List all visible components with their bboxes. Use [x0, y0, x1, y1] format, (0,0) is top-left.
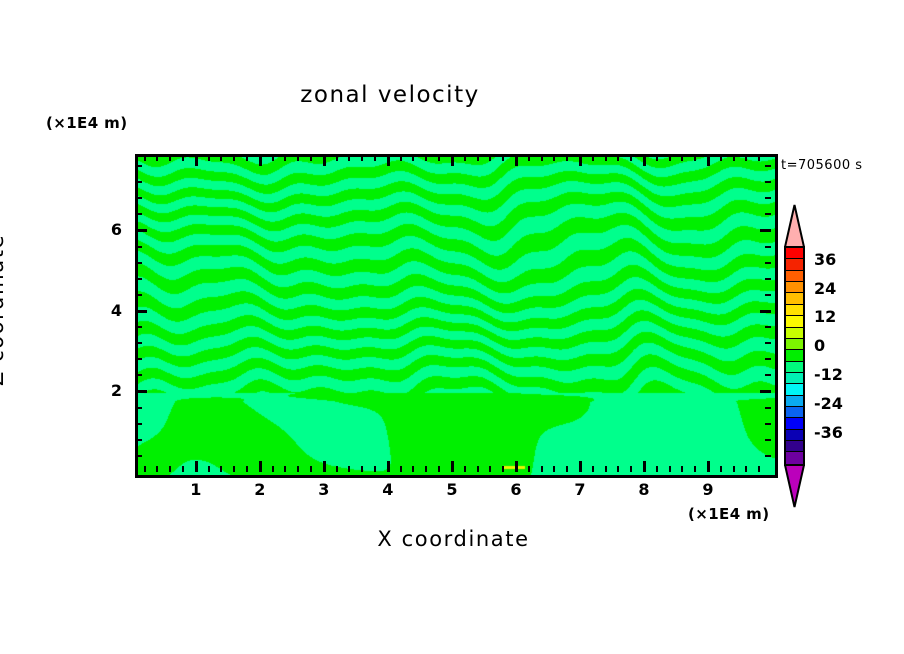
y-major-tick: [136, 229, 147, 232]
x-minor-tick-top: [336, 155, 338, 161]
y-tick-label: 2: [96, 381, 122, 400]
colorbar-band: [786, 271, 803, 282]
x-minor-tick: [272, 466, 274, 472]
x-tick-label: 2: [245, 480, 275, 499]
x-minor-tick-top: [412, 155, 414, 161]
colorbar-tick-label: 36: [814, 250, 836, 269]
x-minor-tick: [156, 466, 158, 472]
y-minor-tick: [136, 358, 142, 360]
y-minor-tick-right: [765, 423, 771, 425]
y-minor-tick-right: [765, 165, 771, 167]
colorbar-band: [786, 305, 803, 316]
x-minor-tick-top: [169, 155, 171, 161]
colorbar-bands: [784, 246, 805, 466]
x-tick-label: 1: [181, 480, 211, 499]
y-minor-tick: [136, 423, 142, 425]
x-major-tick: [707, 461, 710, 472]
x-minor-tick: [502, 466, 504, 472]
y-minor-tick-right: [765, 455, 771, 457]
colorbar-band: [786, 396, 803, 407]
x-tick-label: 4: [373, 480, 403, 499]
x-minor-tick-top: [489, 155, 491, 161]
x-major-tick-top: [451, 155, 454, 166]
x-minor-tick: [566, 466, 568, 472]
y-minor-tick: [136, 294, 142, 296]
x-tick-label: 8: [629, 480, 659, 499]
x-minor-tick-top: [208, 155, 210, 161]
y-minor-tick-right: [765, 197, 771, 199]
y-tick-label: 6: [96, 220, 122, 239]
x-minor-tick-top: [348, 155, 350, 161]
x-tick-label: 3: [309, 480, 339, 499]
x-minor-tick: [233, 466, 235, 472]
y-minor-tick: [136, 407, 142, 409]
colorbar-tick-label: -36: [814, 423, 843, 442]
y-minor-tick: [136, 374, 142, 376]
colorbar-band: [786, 248, 803, 259]
x-minor-tick: [681, 466, 683, 472]
x-minor-tick: [310, 466, 312, 472]
y-minor-tick-right: [765, 342, 771, 344]
y-minor-tick-right: [765, 326, 771, 328]
x-minor-tick-top: [733, 155, 735, 161]
y-major-tick: [136, 390, 147, 393]
y-minor-tick: [136, 278, 142, 280]
x-axis-title: X coordinate: [135, 527, 772, 551]
x-minor-tick-top: [284, 155, 286, 161]
x-minor-tick-top: [438, 155, 440, 161]
x-minor-tick-top: [144, 155, 146, 161]
y-minor-tick: [136, 181, 142, 183]
x-minor-tick: [553, 466, 555, 472]
x-major-tick: [195, 461, 198, 472]
x-minor-tick-top: [297, 155, 299, 161]
x-minor-tick: [297, 466, 299, 472]
x-minor-tick: [336, 466, 338, 472]
x-major-tick-top: [387, 155, 390, 166]
y-minor-tick: [136, 439, 142, 441]
x-minor-tick: [541, 466, 543, 472]
y-tick-label: 4: [96, 301, 122, 320]
colorbar-band: [786, 407, 803, 418]
x-minor-tick-top: [477, 155, 479, 161]
x-minor-tick-top: [272, 155, 274, 161]
x-minor-tick: [733, 466, 735, 472]
x-minor-tick: [246, 466, 248, 472]
colorbar-band: [786, 452, 803, 463]
y-major-tick: [136, 310, 147, 313]
x-minor-tick: [592, 466, 594, 472]
x-major-tick: [259, 461, 262, 472]
y-minor-tick-right: [765, 181, 771, 183]
y-minor-tick: [136, 197, 142, 199]
x-minor-tick-top: [592, 155, 594, 161]
x-minor-tick-top: [758, 155, 760, 161]
colorbar-tick-label: -24: [814, 394, 843, 413]
x-major-tick-top: [643, 155, 646, 166]
x-minor-tick: [412, 466, 414, 472]
y-minor-tick: [136, 262, 142, 264]
x-minor-tick-top: [617, 155, 619, 161]
x-minor-tick: [617, 466, 619, 472]
x-minor-tick: [720, 466, 722, 472]
x-minor-tick: [425, 466, 427, 472]
x-minor-tick: [656, 466, 658, 472]
y-minor-tick-right: [765, 294, 771, 296]
colorbar-over-arrow-icon: [784, 204, 805, 248]
x-minor-tick-top: [681, 155, 683, 161]
x-major-tick-top: [579, 155, 582, 166]
x-minor-tick-top: [745, 155, 747, 161]
x-minor-tick: [182, 466, 184, 472]
x-major-tick: [579, 461, 582, 472]
y-minor-tick-right: [765, 246, 771, 248]
x-minor-tick: [400, 466, 402, 472]
x-major-tick-top: [259, 155, 262, 166]
colorbar-band: [786, 373, 803, 384]
page-title: zonal velocity: [0, 82, 780, 108]
colorbar: 3624120-12-24-36: [784, 204, 805, 508]
colorbar-band: [786, 441, 803, 452]
x-minor-tick-top: [656, 155, 658, 161]
x-tick-label: 7: [565, 480, 595, 499]
x-major-tick: [387, 461, 390, 472]
x-minor-tick: [605, 466, 607, 472]
x-minor-tick-top: [425, 155, 427, 161]
x-minor-tick: [220, 466, 222, 472]
colorbar-band: [786, 362, 803, 373]
x-minor-tick-top: [464, 155, 466, 161]
x-minor-tick-top: [182, 155, 184, 161]
x-major-tick-top: [707, 155, 710, 166]
y-minor-tick: [136, 326, 142, 328]
x-major-tick: [451, 461, 454, 472]
y-major-tick-right: [760, 390, 771, 393]
x-minor-tick: [438, 466, 440, 472]
contour-plot-area: [135, 154, 778, 478]
x-minor-tick: [694, 466, 696, 472]
x-minor-tick-top: [400, 155, 402, 161]
y-minor-tick-right: [765, 213, 771, 215]
contour-field-canvas: [138, 157, 775, 475]
colorbar-tick-label: 24: [814, 279, 836, 298]
x-minor-tick-top: [553, 155, 555, 161]
x-minor-tick: [745, 466, 747, 472]
x-minor-tick-top: [374, 155, 376, 161]
time-stamp-label: t=705600 s: [781, 158, 863, 173]
x-minor-tick: [169, 466, 171, 472]
colorbar-band: [786, 282, 803, 293]
x-minor-tick-top: [361, 155, 363, 161]
y-major-tick-right: [760, 310, 771, 313]
colorbar-band: [786, 418, 803, 429]
y-minor-tick-right: [765, 439, 771, 441]
x-minor-tick-top: [605, 155, 607, 161]
x-minor-tick: [144, 466, 146, 472]
colorbar-band: [786, 350, 803, 361]
colorbar-band: [786, 328, 803, 339]
x-major-tick-top: [323, 155, 326, 166]
colorbar-tick-label: -12: [814, 365, 843, 384]
x-minor-tick: [348, 466, 350, 472]
y-minor-tick-right: [765, 278, 771, 280]
x-minor-tick: [489, 466, 491, 472]
y-axis-units-label: (×1E4 m): [46, 114, 127, 132]
x-minor-tick-top: [541, 155, 543, 161]
x-minor-tick: [208, 466, 210, 472]
colorbar-band: [786, 430, 803, 441]
y-minor-tick-right: [765, 374, 771, 376]
x-minor-tick: [477, 466, 479, 472]
x-minor-tick-top: [246, 155, 248, 161]
y-minor-tick: [136, 455, 142, 457]
x-minor-tick-top: [669, 155, 671, 161]
x-major-tick-top: [195, 155, 198, 166]
x-major-tick: [515, 461, 518, 472]
x-minor-tick-top: [566, 155, 568, 161]
colorbar-under-arrow-icon: [784, 464, 805, 508]
y-minor-tick: [136, 165, 142, 167]
x-minor-tick: [361, 466, 363, 472]
x-minor-tick: [374, 466, 376, 472]
x-axis-units-label: (×1E4 m): [688, 505, 769, 523]
x-major-tick-top: [515, 155, 518, 166]
colorbar-band: [786, 316, 803, 327]
y-minor-tick: [136, 246, 142, 248]
colorbar-band: [786, 259, 803, 270]
x-minor-tick-top: [528, 155, 530, 161]
x-minor-tick-top: [310, 155, 312, 161]
colorbar-band: [786, 384, 803, 395]
x-minor-tick-top: [502, 155, 504, 161]
x-tick-label: 9: [693, 480, 723, 499]
y-axis-title: Z coordinate: [0, 210, 8, 410]
x-major-tick: [643, 461, 646, 472]
x-tick-label: 5: [437, 480, 467, 499]
y-minor-tick-right: [765, 407, 771, 409]
colorbar-band: [786, 293, 803, 304]
x-minor-tick-top: [630, 155, 632, 161]
colorbar-tick-label: 0: [814, 336, 825, 355]
x-minor-tick: [758, 466, 760, 472]
y-minor-tick-right: [765, 358, 771, 360]
y-minor-tick: [136, 342, 142, 344]
x-minor-tick: [630, 466, 632, 472]
x-minor-tick: [284, 466, 286, 472]
y-minor-tick: [136, 213, 142, 215]
x-minor-tick-top: [220, 155, 222, 161]
x-minor-tick: [669, 466, 671, 472]
x-minor-tick-top: [694, 155, 696, 161]
y-minor-tick-right: [765, 262, 771, 264]
x-tick-label: 6: [501, 480, 531, 499]
x-major-tick: [323, 461, 326, 472]
x-minor-tick-top: [720, 155, 722, 161]
colorbar-tick-label: 12: [814, 307, 836, 326]
x-minor-tick: [528, 466, 530, 472]
colorbar-band: [786, 339, 803, 350]
x-minor-tick-top: [233, 155, 235, 161]
x-minor-tick: [464, 466, 466, 472]
x-minor-tick-top: [156, 155, 158, 161]
y-major-tick-right: [760, 229, 771, 232]
